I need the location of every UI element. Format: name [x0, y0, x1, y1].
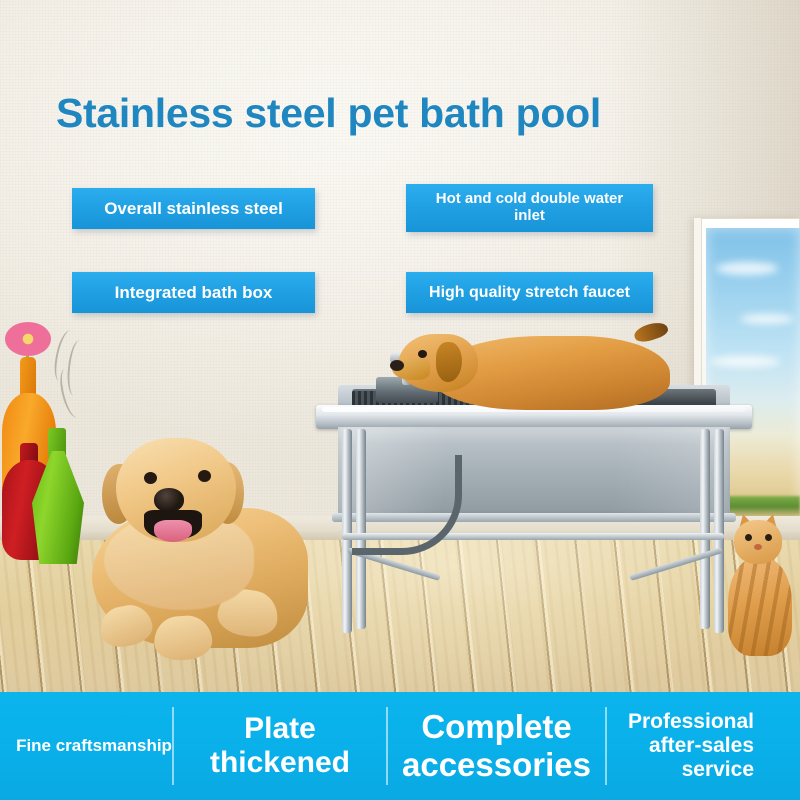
- cloud-icon: [710, 356, 780, 367]
- cat-eye: [745, 534, 752, 541]
- bottom-benefits-banner: Fine craftsmanship Plate thickened Compl…: [0, 692, 800, 800]
- dog-eye: [198, 470, 211, 482]
- tub-leg: [700, 429, 710, 629]
- benefit-fine-craftsmanship: Fine craftsmanship: [0, 692, 172, 800]
- orange-tabby-cat: [718, 512, 796, 658]
- product-ad-image: Stainless steel pet bath pool Overall st…: [0, 0, 800, 800]
- dog-nose: [154, 488, 184, 512]
- pink-gerbera-flower: [5, 322, 51, 356]
- dog-eye: [144, 472, 157, 484]
- cloud-icon: [740, 314, 794, 324]
- tub-leg: [342, 429, 352, 633]
- feature-chip-integrated-bath-box: Integrated bath box: [72, 272, 315, 313]
- cat-nose: [754, 544, 762, 550]
- benefit-complete-accessories: Complete accessories: [388, 692, 605, 800]
- dog-tongue: [154, 520, 192, 542]
- dog-eye: [418, 350, 427, 358]
- feature-chip-hot-cold-double-water-inlet: Hot and cold double water inlet: [406, 184, 653, 232]
- cat-head: [734, 520, 782, 564]
- cat-eye: [765, 534, 772, 541]
- cat-stripes: [728, 558, 792, 656]
- benefit-professional-after-sales-service: Professional after-sales service: [607, 692, 800, 800]
- feature-chip-overall-stainless-steel: Overall stainless steel: [72, 188, 315, 229]
- page-title: Stainless steel pet bath pool: [56, 90, 756, 137]
- dog-nose: [390, 360, 404, 371]
- golden-retriever-in-tub: [398, 330, 670, 416]
- benefit-plate-thickened: Plate thickened: [174, 692, 386, 800]
- feature-chip-high-quality-stretch-faucet: High quality stretch faucet: [406, 272, 653, 313]
- golden-retriever-on-floor: [92, 430, 312, 665]
- cloud-icon: [716, 262, 778, 275]
